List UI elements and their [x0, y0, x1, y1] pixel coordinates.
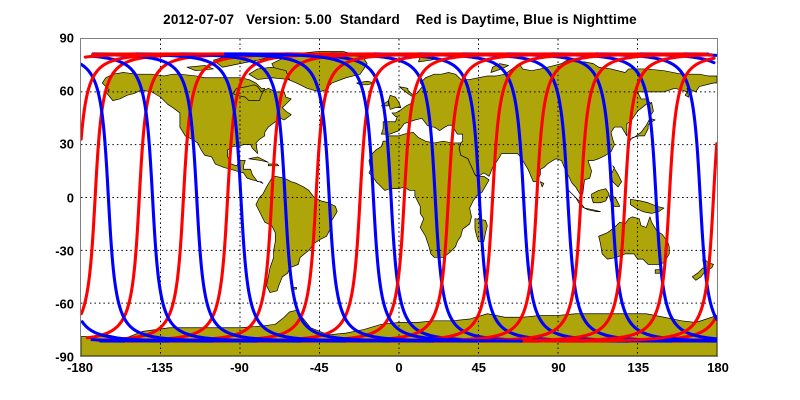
x-tick-label: -180	[50, 360, 110, 375]
y-tick-label: -30	[38, 243, 74, 258]
x-tick-label: 135	[608, 360, 668, 375]
x-tick-label: -90	[210, 360, 270, 375]
y-tick-label: 30	[38, 137, 74, 152]
x-axis-labels: -180-135-90-4504590135180	[80, 360, 718, 382]
map-svg	[81, 39, 717, 356]
y-tick-label: -60	[38, 296, 74, 311]
x-tick-label: 45	[449, 360, 509, 375]
map-plot-area[interactable]	[80, 38, 718, 357]
plot-title: 2012-07-07 Version: 5.00 Standard Red is…	[0, 12, 800, 27]
x-tick-label: 90	[529, 360, 589, 375]
y-tick-label: 0	[38, 190, 74, 205]
x-tick-label: 0	[369, 360, 429, 375]
y-tick-label: 60	[38, 84, 74, 99]
y-tick-label: 90	[38, 31, 74, 46]
y-axis-labels: 9060300-30-60-90	[34, 38, 74, 357]
x-tick-label: -45	[289, 360, 349, 375]
satellite-ground-track-figure: 2012-07-07 Version: 5.00 Standard Red is…	[0, 0, 800, 400]
x-tick-label: 180	[688, 360, 748, 375]
x-tick-label: -135	[130, 360, 190, 375]
